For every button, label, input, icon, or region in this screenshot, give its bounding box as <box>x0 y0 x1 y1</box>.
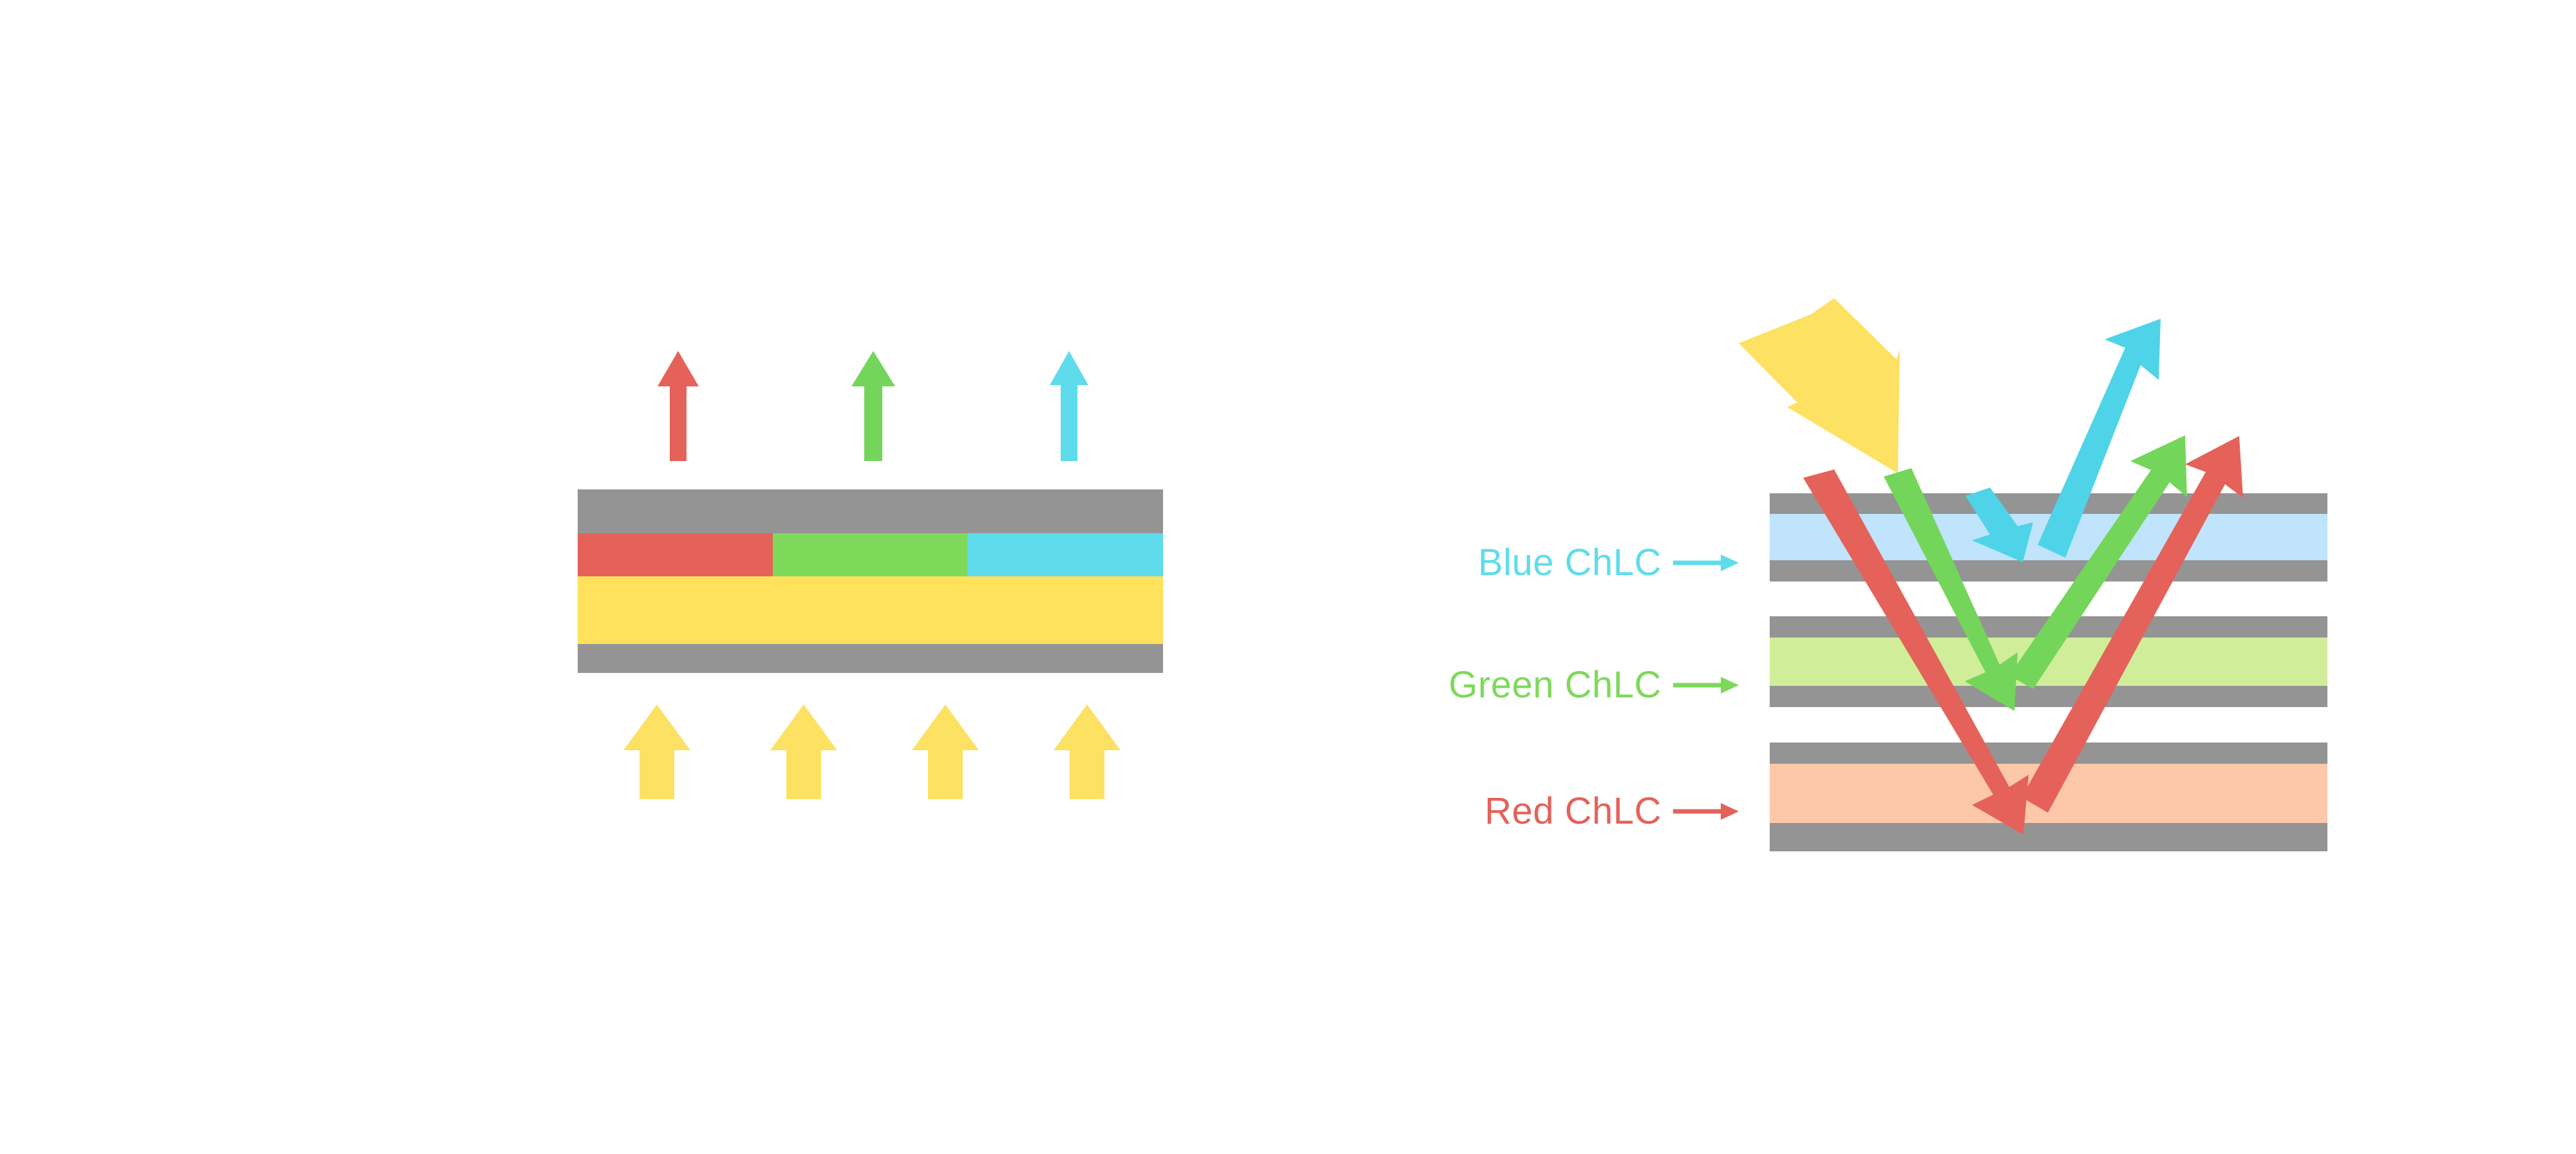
left-color-segment-red <box>578 533 773 576</box>
left-color-segment-blue <box>967 533 1163 576</box>
blue-cell-bottom-electrode <box>1770 560 2327 582</box>
left-backlight-layer <box>578 576 1163 644</box>
label-green-chlc-text: Green ChLC <box>1448 664 1662 706</box>
diagram-canvas: Blue ChLC Green ChLC Red ChLC <box>0 0 2576 1154</box>
left-bottom-electrode <box>578 644 1163 673</box>
red-cell-bottom-electrode <box>1770 823 2327 851</box>
green-cell-bottom-electrode <box>1770 686 2327 707</box>
left-stack-layers <box>578 489 1163 673</box>
diagram-root: Blue ChLC Green ChLC Red ChLC <box>0 0 2576 1154</box>
left-top-electrode <box>578 489 1163 533</box>
label-red-chlc-text: Red ChLC <box>1484 790 1662 832</box>
label-blue-chlc-text: Blue ChLC <box>1478 542 1662 583</box>
left-color-segment-green <box>773 533 967 576</box>
